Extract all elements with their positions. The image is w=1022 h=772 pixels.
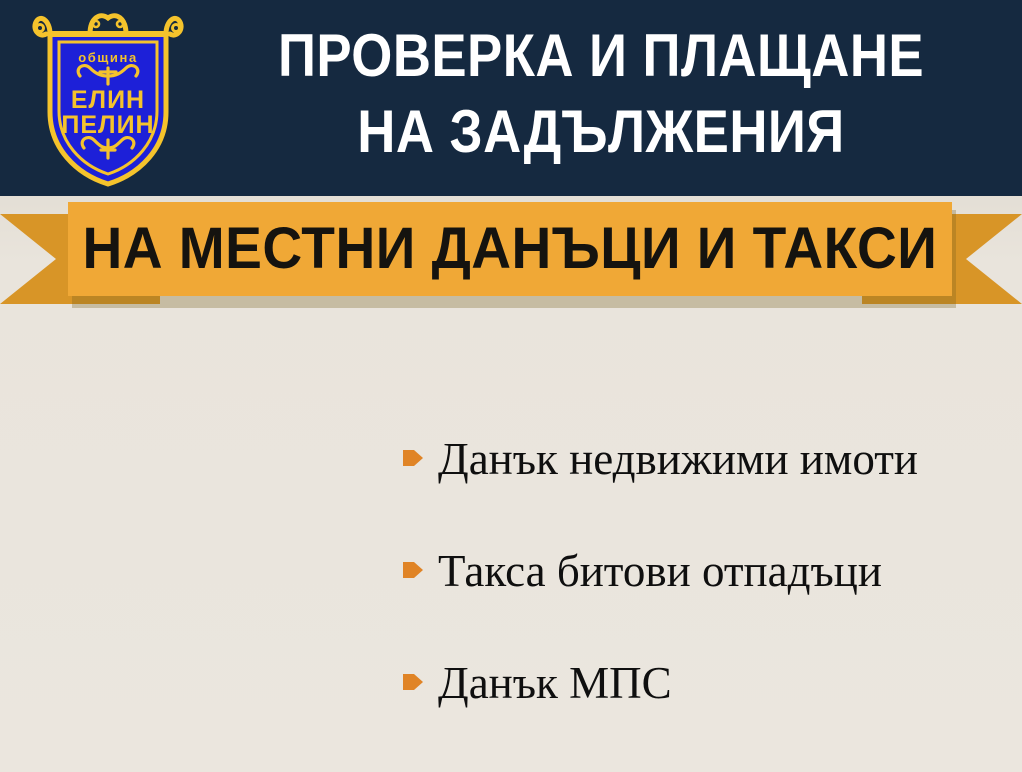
page-title-line-1: ПРОВЕРКА И ПЛАЩАНЕ (278, 22, 924, 89)
poster-canvas: община ЕЛИН ПЕЛИН (0, 0, 1022, 772)
svg-text:ПЕЛИН: ПЕЛИН (61, 111, 154, 139)
svg-text:ЕЛИН: ЕЛИН (71, 86, 145, 114)
list-item[interactable]: Данък недвижими имоти (402, 432, 1012, 486)
stamp-paper-house (40, 336, 184, 480)
stamp-paper-car (112, 552, 267, 707)
svg-text:община: община (78, 50, 138, 65)
header-bar: община ЕЛИН ПЕЛИН (0, 0, 1022, 196)
car-front-icon (132, 578, 248, 682)
arrow-bullet-icon (402, 558, 424, 582)
list-item[interactable]: Такса битови отпадъци (402, 544, 1012, 598)
list-item-label: Такса битови отпадъци (438, 544, 882, 598)
ribbon-label: НА МЕСТНИ ДАНЪЦИ И ТАКСИ (83, 220, 938, 278)
arrow-bullet-icon (402, 446, 424, 470)
subtitle-ribbon: НА МЕСТНИ ДАНЪЦИ И ТАКСИ (0, 196, 1022, 308)
arrow-bullet-icon (402, 670, 424, 694)
tax-type-list: Данък недвижими имоти Такса битови отпад… (402, 432, 1012, 768)
municipality-crest-logo: община ЕЛИН ПЕЛИН (28, 8, 188, 190)
ribbon-banner: НА МЕСТНИ ДАНЪЦИ И ТАКСИ (68, 202, 952, 296)
stamp-card-car (86, 526, 295, 735)
list-item-label: Данък МПС (438, 656, 672, 710)
list-item-label: Данък недвижими имоти (438, 432, 918, 486)
page-title: ПРОВЕРКА И ПЛАЩАНЕ НА ЗАДЪЛЖЕНИЯ (239, 18, 962, 170)
stamp-card-house (15, 311, 209, 505)
house-icon (61, 358, 164, 457)
page-title-line-2: НА ЗАДЪЛЖЕНИЯ (239, 94, 962, 170)
list-item[interactable]: Данък МПС (402, 656, 1012, 710)
trash-bin-icon (255, 438, 352, 542)
